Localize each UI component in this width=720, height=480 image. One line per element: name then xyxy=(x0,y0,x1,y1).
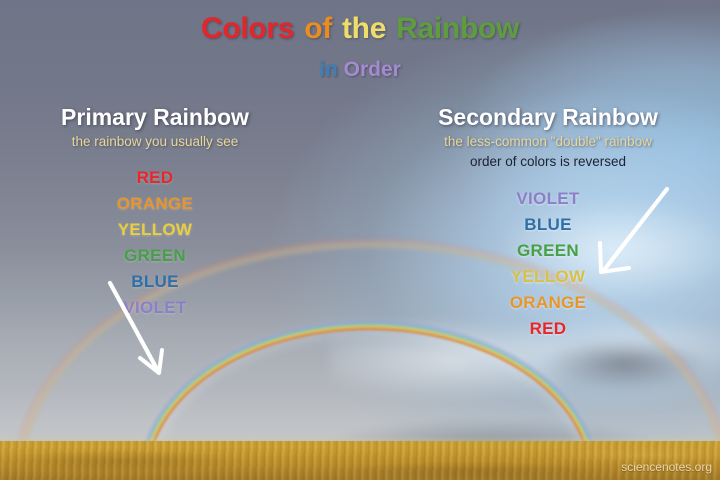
annotation-arrows xyxy=(0,0,720,480)
arrow-right-to-secondary-rainbow xyxy=(600,189,667,272)
watermark: sciencenotes.org xyxy=(621,460,712,474)
arrow-left-to-primary-rainbow xyxy=(110,283,162,373)
infographic-canvas: Colors of the Rainbow in Order Primary R… xyxy=(0,0,720,480)
